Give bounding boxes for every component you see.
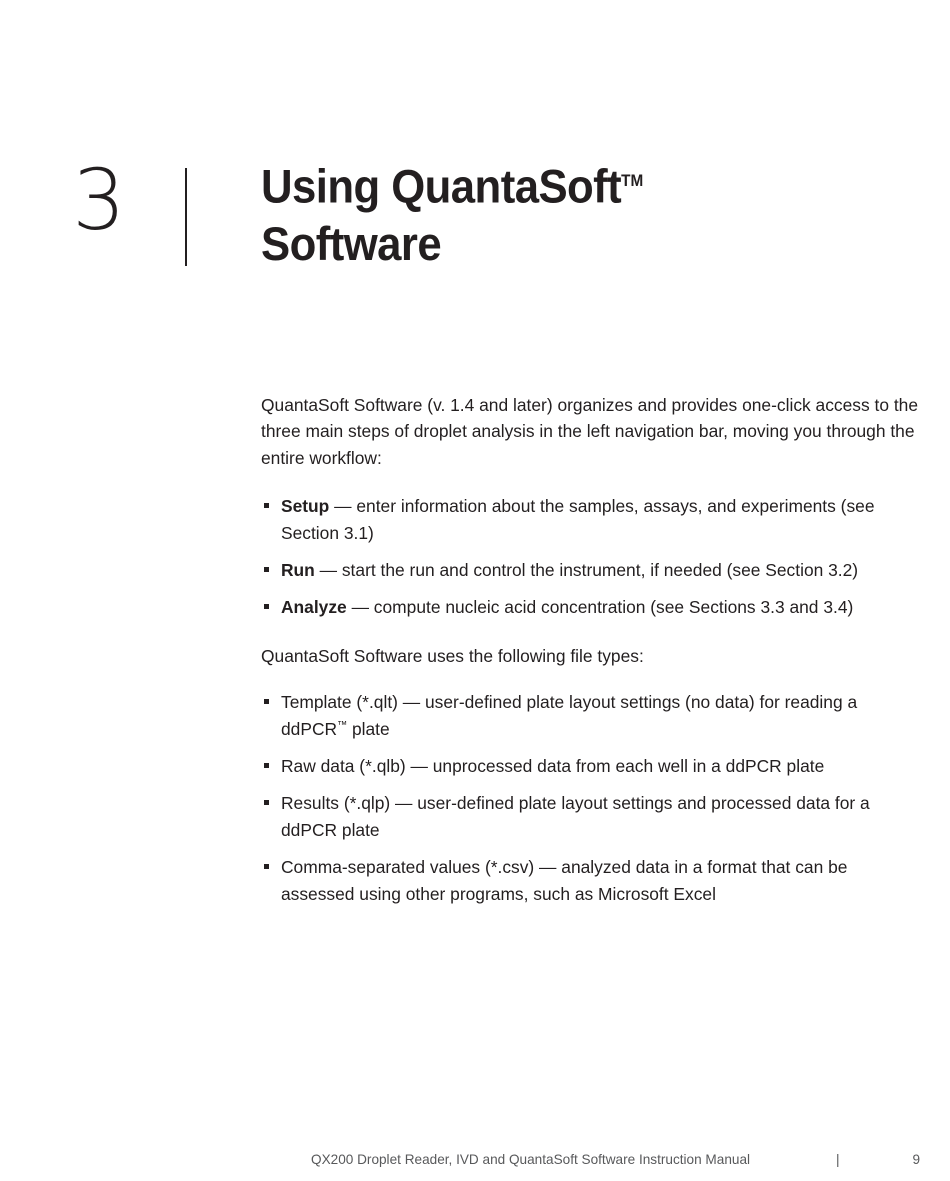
file-types-paragraph: QuantaSoft Software uses the following f… (261, 643, 923, 669)
workflow-step-text: — enter information about the samples, a… (281, 496, 875, 542)
workflow-step-text: — compute nucleic acid concentration (se… (347, 597, 854, 617)
list-item: Template (*.qlt) — user-defined plate la… (261, 689, 923, 742)
list-item: Results (*.qlp) — user-defined plate lay… (261, 790, 923, 843)
chapter-header: 3 Using QuantaSoftTM Software (0, 150, 950, 290)
list-item: Raw data (*.qlb) — unprocessed data from… (261, 753, 923, 779)
workflow-step-text: — start the run and control the instrume… (315, 560, 858, 580)
list-item: Setup — enter information about the samp… (261, 493, 923, 546)
workflow-step-lead: Setup (281, 496, 329, 516)
file-type-text: Raw data (*.qlb) — unprocessed data from… (281, 756, 824, 776)
page-body: QuantaSoft Software (v. 1.4 and later) o… (261, 392, 923, 929)
workflow-steps-list: Setup — enter information about the samp… (261, 493, 923, 621)
footer-separator: | (836, 1150, 840, 1170)
trademark-superscript: TM (621, 172, 643, 190)
chapter-title-line2: Software (261, 217, 441, 270)
list-item: Run — start the run and control the inst… (261, 557, 923, 583)
workflow-step-lead: Run (281, 560, 315, 580)
chapter-title-line1: Using QuantaSoft (261, 160, 621, 213)
footer-manual-title: QX200 Droplet Reader, IVD and QuantaSoft… (311, 1150, 750, 1170)
page-footer: QX200 Droplet Reader, IVD and QuantaSoft… (0, 1150, 950, 1174)
chapter-number: 3 (44, 150, 154, 250)
workflow-step-lead: Analyze (281, 597, 347, 617)
file-type-text: Results (*.qlp) — user-defined plate lay… (281, 793, 870, 839)
list-item: Analyze — compute nucleic acid concentra… (261, 594, 923, 620)
file-types-list: Template (*.qlt) — user-defined plate la… (261, 689, 923, 907)
file-type-text-after: plate (347, 719, 390, 739)
trademark-superscript: ™ (337, 720, 347, 731)
chapter-divider-rule (185, 168, 187, 266)
list-item: Comma-separated values (*.csv) — analyze… (261, 854, 923, 907)
page-title: Using QuantaSoftTM Software (261, 153, 875, 272)
document-page: 3 Using QuantaSoftTM Software QuantaSoft… (0, 0, 950, 1181)
intro-paragraph: QuantaSoft Software (v. 1.4 and later) o… (261, 392, 923, 471)
footer-page-number: 9 (880, 1150, 920, 1170)
file-type-text: Comma-separated values (*.csv) — analyze… (281, 857, 847, 903)
